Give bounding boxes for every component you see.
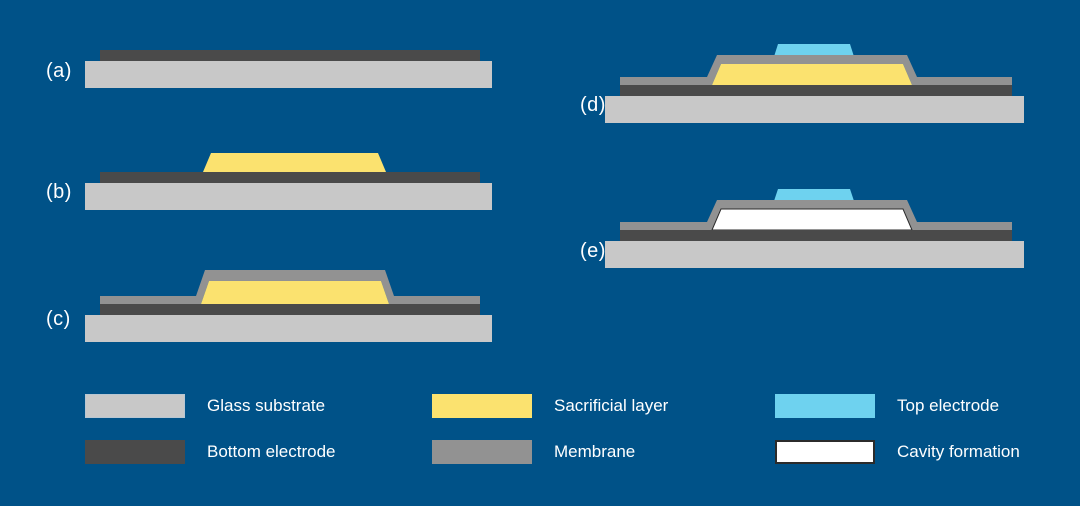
glass-substrate-layer bbox=[605, 96, 1024, 123]
panel-d-cross-section bbox=[560, 30, 1080, 135]
sacrificial-layer-shape bbox=[712, 64, 912, 85]
legend-item-top-electrode[interactable]: Top electrode bbox=[775, 394, 999, 418]
panel-b-cross-section bbox=[0, 140, 520, 220]
legend-item-membrane[interactable]: Membrane bbox=[432, 440, 635, 464]
panel-c-cross-section bbox=[0, 255, 520, 345]
cavity-shape bbox=[712, 209, 912, 230]
sacrificial-layer-shape bbox=[203, 153, 386, 172]
legend-label-sacrificial-layer: Sacrificial layer bbox=[554, 396, 668, 416]
panel-d-stack bbox=[560, 30, 1080, 135]
panel-e-stack bbox=[560, 175, 1080, 275]
panel-b-stack bbox=[0, 140, 520, 220]
legend-swatch-bottom-electrode bbox=[85, 440, 185, 464]
glass-substrate-layer bbox=[85, 61, 492, 88]
glass-substrate-layer bbox=[85, 183, 492, 210]
panel-a-cross-section bbox=[0, 0, 520, 110]
sacrificial-layer-shape bbox=[201, 281, 389, 304]
panel-c-stack bbox=[0, 255, 520, 345]
legend-label-membrane: Membrane bbox=[554, 442, 635, 462]
legend-swatch-membrane bbox=[432, 440, 532, 464]
legend-swatch-top-electrode bbox=[775, 394, 875, 418]
legend-label-glass-substrate: Glass substrate bbox=[207, 396, 325, 416]
legend-item-sacrificial-layer[interactable]: Sacrificial layer bbox=[432, 394, 668, 418]
legend-swatch-sacrificial-layer bbox=[432, 394, 532, 418]
glass-substrate-layer bbox=[85, 315, 492, 342]
bottom-electrode-layer bbox=[620, 230, 1012, 241]
legend-label-bottom-electrode: Bottom electrode bbox=[207, 442, 336, 462]
process-flow-figure: (a) (b) (c) bbox=[0, 0, 1080, 506]
panel-e-cross-section bbox=[560, 175, 1080, 275]
legend-label-cavity-formation: Cavity formation bbox=[897, 442, 1020, 462]
bottom-electrode-layer bbox=[100, 50, 480, 61]
legend-swatch-glass-substrate bbox=[85, 394, 185, 418]
glass-substrate-layer bbox=[605, 241, 1024, 268]
legend-item-bottom-electrode[interactable]: Bottom electrode bbox=[85, 440, 336, 464]
legend-label-top-electrode: Top electrode bbox=[897, 396, 999, 416]
legend-item-cavity-formation[interactable]: Cavity formation bbox=[775, 440, 1020, 464]
bottom-electrode-layer bbox=[100, 304, 480, 315]
panel-a-stack bbox=[0, 0, 520, 110]
legend-item-glass-substrate[interactable]: Glass substrate bbox=[85, 394, 325, 418]
bottom-electrode-layer bbox=[620, 85, 1012, 96]
legend-swatch-cavity-formation bbox=[775, 440, 875, 464]
bottom-electrode-layer bbox=[100, 172, 480, 183]
